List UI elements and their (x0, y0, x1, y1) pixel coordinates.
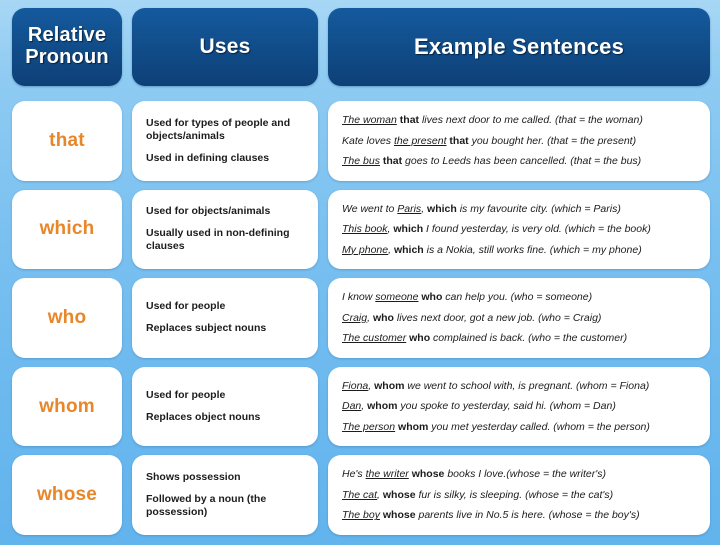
table-header-row: RelativePronoun Uses Example Sentences (12, 8, 710, 86)
example-sentence: The bus that goes to Leeds has been canc… (342, 155, 702, 168)
pronoun-cell: that (12, 101, 122, 181)
uses-cell: Used for peopleReplaces subject nouns (132, 278, 318, 358)
table-row: whoseShows possessionFollowed by a noun … (12, 455, 710, 535)
use-item: Usually used in non-defining clauses (146, 227, 312, 253)
examples-cell: Fiona, whom we went to school with, is p… (328, 367, 710, 447)
relative-pronouns-table: RelativePronoun Uses Example Sentences t… (0, 0, 720, 545)
use-item: Replaces subject nouns (146, 322, 312, 335)
example-sentence: The customer who complained is back. (wh… (342, 332, 702, 345)
example-sentence: The person whom you met yesterday called… (342, 421, 702, 434)
table-row: thatUsed for types of people and objects… (12, 101, 710, 181)
uses-list: Used for peopleReplaces subject nouns (146, 300, 312, 335)
example-sentence: My phone, which is a Nokia, still works … (342, 244, 702, 257)
uses-list: Used for types of people and objects/ani… (146, 117, 312, 165)
example-sentence: The boy whose parents live in No.5 is he… (342, 509, 702, 522)
uses-list: Used for peopleReplaces object nouns (146, 389, 312, 424)
column-header-example-sentences: Example Sentences (328, 8, 710, 86)
column-header-relative-pronoun: RelativePronoun (12, 8, 122, 86)
column-header-uses-label: Uses (199, 35, 250, 59)
pronoun-cell: whose (12, 455, 122, 535)
uses-list: Used for objects/animalsUsually used in … (146, 205, 312, 253)
use-item: Used for people (146, 389, 312, 402)
example-sentence-list: Fiona, whom we went to school with, is p… (342, 380, 702, 434)
examples-cell: The woman that lives next door to me cal… (328, 101, 710, 181)
use-item: Used for people (146, 300, 312, 313)
examples-cell: He's the writer whose books I love.(whos… (328, 455, 710, 535)
example-sentence: He's the writer whose books I love.(whos… (342, 468, 702, 481)
examples-cell: We went to Paris, which is my favourite … (328, 190, 710, 270)
pronoun-label: whose (37, 484, 97, 506)
example-sentence: Dan, whom you spoke to yesterday, said h… (342, 400, 702, 413)
example-sentence: Fiona, whom we went to school with, is p… (342, 380, 702, 393)
example-sentence-list: I know someone who can help you. (who = … (342, 291, 702, 345)
pronoun-label: whom (39, 396, 95, 418)
pronoun-cell: which (12, 190, 122, 270)
example-sentence: We went to Paris, which is my favourite … (342, 203, 702, 216)
uses-cell: Shows possessionFollowed by a noun (the … (132, 455, 318, 535)
examples-cell: I know someone who can help you. (who = … (328, 278, 710, 358)
uses-cell: Used for peopleReplaces object nouns (132, 367, 318, 447)
use-item: Shows possession (146, 471, 312, 484)
use-item: Used for types of people and objects/ani… (146, 117, 312, 143)
table-row: whichUsed for objects/animalsUsually use… (12, 190, 710, 270)
use-item: Used in defining clauses (146, 152, 312, 165)
column-header-relative-pronoun-label: RelativePronoun (25, 25, 109, 68)
example-sentence: This book, which I found yesterday, is v… (342, 223, 702, 236)
uses-cell: Used for objects/animalsUsually used in … (132, 190, 318, 270)
use-item: Replaces object nouns (146, 411, 312, 424)
example-sentence: I know someone who can help you. (who = … (342, 291, 702, 304)
example-sentence: Kate loves the present that you bought h… (342, 135, 702, 148)
example-sentence: The woman that lives next door to me cal… (342, 114, 702, 127)
uses-cell: Used for types of people and objects/ani… (132, 101, 318, 181)
use-item: Followed by a noun (the possession) (146, 493, 312, 519)
example-sentence-list: He's the writer whose books I love.(whos… (342, 468, 702, 522)
pronoun-label: that (49, 130, 85, 152)
table-row: whomUsed for peopleReplaces object nouns… (12, 367, 710, 447)
pronoun-label: which (40, 218, 95, 240)
pronoun-cell: who (12, 278, 122, 358)
example-sentence: The cat, whose fur is silky, is sleeping… (342, 489, 702, 502)
example-sentence-list: The woman that lives next door to me cal… (342, 114, 702, 168)
table-row: whoUsed for peopleReplaces subject nouns… (12, 278, 710, 358)
pronoun-cell: whom (12, 367, 122, 447)
table-body: thatUsed for types of people and objects… (12, 101, 710, 535)
example-sentence: Craig, who lives next door, got a new jo… (342, 312, 702, 325)
example-sentence-list: We went to Paris, which is my favourite … (342, 203, 702, 257)
column-header-example-sentences-label: Example Sentences (414, 34, 624, 60)
use-item: Used for objects/animals (146, 205, 312, 218)
column-header-uses: Uses (132, 8, 318, 86)
uses-list: Shows possessionFollowed by a noun (the … (146, 471, 312, 519)
pronoun-label: who (48, 307, 87, 329)
